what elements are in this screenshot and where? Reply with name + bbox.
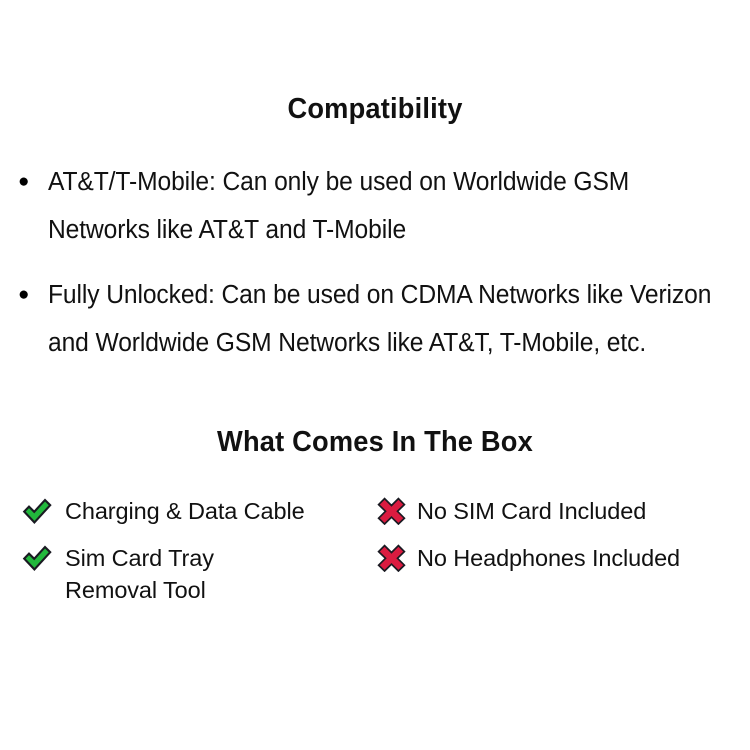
green-check-icon bbox=[20, 492, 54, 530]
bullet-dot-icon: ● bbox=[18, 158, 34, 206]
list-item: ● Fully Unlocked: Can be used on CDMA Ne… bbox=[14, 271, 740, 367]
compatibility-infographic: Compatibility ● AT&T/T-Mobile: Can only … bbox=[0, 0, 750, 750]
list-item: Sim Card Tray Removal Tool bbox=[20, 539, 370, 606]
bullet-item-label: AT&T/T-Mobile: Can only be used on World… bbox=[48, 158, 716, 254]
included-item-label: Charging & Data Cable bbox=[54, 492, 370, 527]
in-the-box-heading: What Comes In The Box bbox=[23, 427, 728, 459]
list-item: No Headphones Included bbox=[374, 539, 750, 577]
box-contents: Charging & Data Cable Sim Card Tray Remo… bbox=[0, 492, 750, 615]
not-included-item-label: No SIM Card Included bbox=[408, 492, 750, 527]
not-included-column: No SIM Card Included No Headphones Inclu… bbox=[370, 492, 750, 586]
bullet-item-label: Fully Unlocked: Can be used on CDMA Netw… bbox=[48, 271, 716, 367]
included-column: Charging & Data Cable Sim Card Tray Remo… bbox=[0, 492, 370, 615]
compatibility-heading: Compatibility bbox=[23, 94, 728, 126]
green-check-icon bbox=[20, 539, 54, 577]
list-item: ● AT&T/T-Mobile: Can only be used on Wor… bbox=[14, 158, 740, 254]
list-item: Charging & Data Cable bbox=[20, 492, 370, 530]
red-cross-icon bbox=[374, 492, 408, 530]
red-cross-icon bbox=[374, 539, 408, 577]
compatibility-bullet-list: ● AT&T/T-Mobile: Can only be used on Wor… bbox=[14, 158, 740, 384]
not-included-item-label: No Headphones Included bbox=[408, 539, 750, 574]
list-item: No SIM Card Included bbox=[374, 492, 750, 530]
included-item-label: Sim Card Tray Removal Tool bbox=[54, 539, 370, 606]
bullet-dot-icon: ● bbox=[18, 271, 34, 319]
